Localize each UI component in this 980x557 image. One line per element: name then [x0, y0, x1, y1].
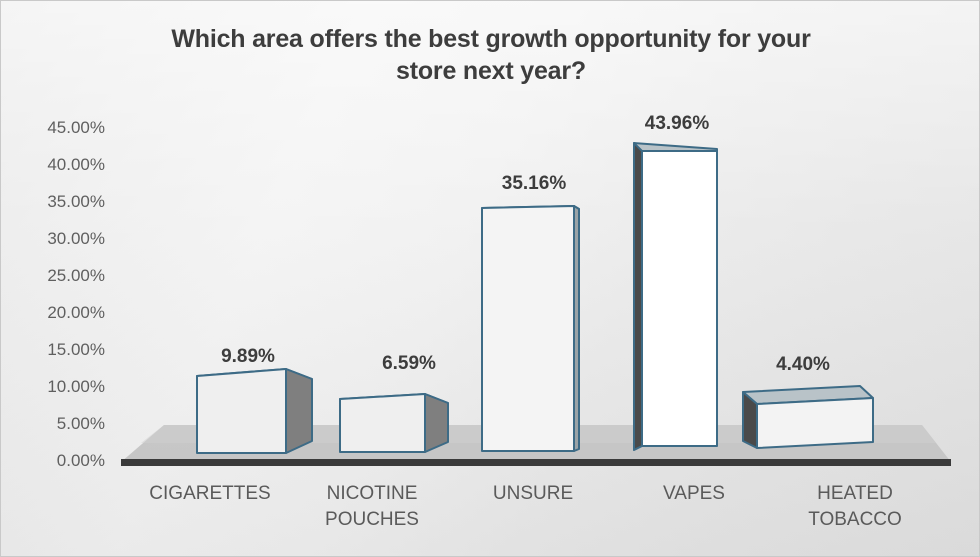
- y-tick-label: 10.00%: [47, 377, 105, 397]
- bar-nicotine-pouches-side-face: [425, 394, 448, 452]
- bar-heated-tobacco[interactable]: [743, 386, 873, 448]
- x-axis-label-heated-tobacco: HEATED TOBACCO: [808, 481, 902, 532]
- bar-vapes-side-face: [634, 143, 642, 450]
- bar-cigarettes-front-face: [197, 369, 286, 453]
- bar-unsure[interactable]: [482, 206, 579, 451]
- bar-vapes-front-face: [642, 151, 717, 446]
- y-tick-label: 5.00%: [57, 414, 105, 434]
- data-label-cigarettes: 9.89%: [221, 346, 275, 368]
- bar-vapes[interactable]: [634, 143, 717, 450]
- bar-cigarettes[interactable]: [197, 369, 312, 453]
- y-tick-label: 15.00%: [47, 340, 105, 360]
- y-tick-label: 0.00%: [57, 451, 105, 471]
- x-axis-label-unsure-line-1: UNSURE: [493, 483, 573, 504]
- x-axis-label-nicotine-pouches-line-1: NICOTINE: [327, 483, 418, 504]
- y-tick-label: 25.00%: [47, 266, 105, 286]
- chart-title-line-1: Which area offers the best growth opport…: [171, 25, 810, 53]
- x-axis-label-vapes: VAPES: [663, 481, 725, 507]
- x-axis-label-unsure: UNSURE: [493, 481, 573, 507]
- y-tick-label: 30.00%: [47, 229, 105, 249]
- y-tick-label: 20.00%: [47, 303, 105, 323]
- x-axis-label-cigarettes-line-1: CIGARETTES: [149, 483, 270, 504]
- x-axis-label-cigarettes: CIGARETTES: [149, 481, 270, 507]
- x-axis-label-nicotine-pouches-line-2: POUCHES: [325, 509, 419, 530]
- x-axis-label-vapes-line-1: VAPES: [663, 483, 725, 504]
- data-label-vapes: 43.96%: [645, 113, 709, 135]
- data-label-heated-tobacco: 4.40%: [776, 354, 830, 376]
- y-tick-label: 35.00%: [47, 192, 105, 212]
- x-axis-label-nicotine-pouches: NICOTINE POUCHES: [325, 481, 419, 532]
- y-tick-label: 40.00%: [47, 155, 105, 175]
- chart-title: Which area offers the best growth opport…: [91, 23, 891, 87]
- x-axis-label-heated-tobacco-line-2: TOBACCO: [808, 509, 902, 530]
- y-tick-label: 45.00%: [47, 118, 105, 138]
- bar-cigarettes-side-face: [286, 369, 312, 453]
- x-axis-label-heated-tobacco-line-1: HEATED: [817, 483, 893, 504]
- bar-nicotine-pouches-front-face: [340, 394, 425, 452]
- data-label-nicotine-pouches: 6.59%: [382, 353, 436, 375]
- bar-heated-tobacco-front-face: [757, 398, 873, 448]
- bar-nicotine-pouches[interactable]: [340, 394, 448, 452]
- bar-vapes-top-face: [634, 143, 717, 151]
- chart-container: Which area offers the best growth opport…: [0, 0, 980, 557]
- chart-title-line-2: store next year?: [396, 57, 586, 85]
- data-label-unsure: 35.16%: [502, 173, 566, 195]
- bar-unsure-front-face: [482, 206, 574, 451]
